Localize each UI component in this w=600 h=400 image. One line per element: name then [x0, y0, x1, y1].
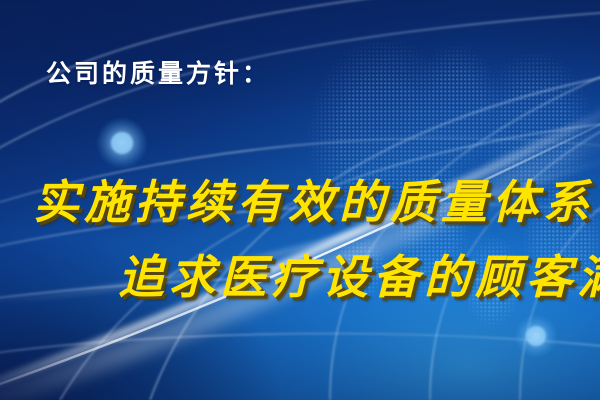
glow-node-lower-right	[514, 314, 558, 358]
slogan-line-2: 追求医疗设备的顾客满意	[118, 241, 600, 307]
banner-image: 公司的质量方针： 实施持续有效的质量体系 追求医疗设备的顾客满意	[0, 0, 600, 400]
glow-node-upper-left	[96, 117, 148, 169]
page-title: 公司的质量方针：	[46, 54, 270, 90]
slogan-line-1: 实施持续有效的质量体系	[33, 166, 594, 232]
